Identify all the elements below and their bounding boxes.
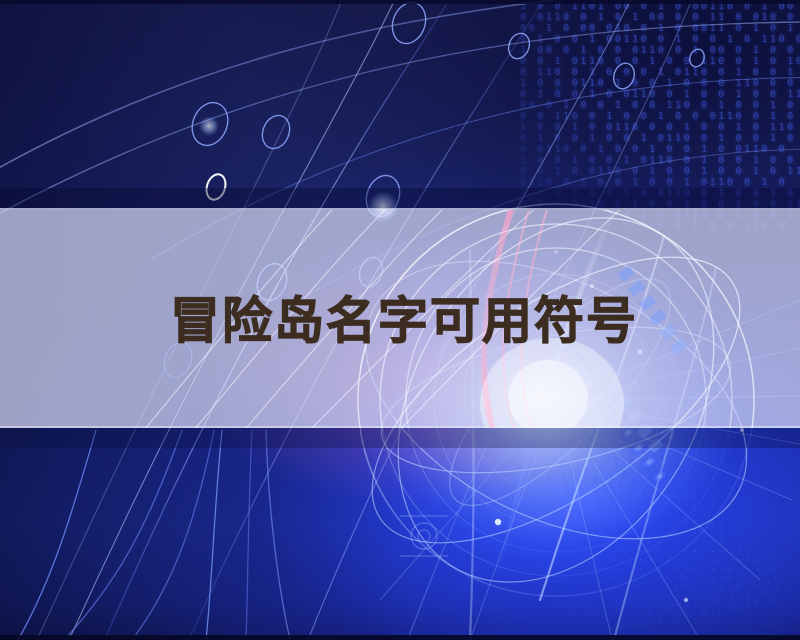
banner-image: 0 10 0011 0 0 101 00 0110 1 0 01 0 0 110… [0, 0, 800, 640]
title-container: 冒险岛名字可用符号 [0, 210, 800, 428]
bottom-edge-bar [0, 635, 800, 640]
page-title: 冒险岛名字可用符号 [170, 296, 638, 346]
top-edge-bar [0, 0, 800, 4]
